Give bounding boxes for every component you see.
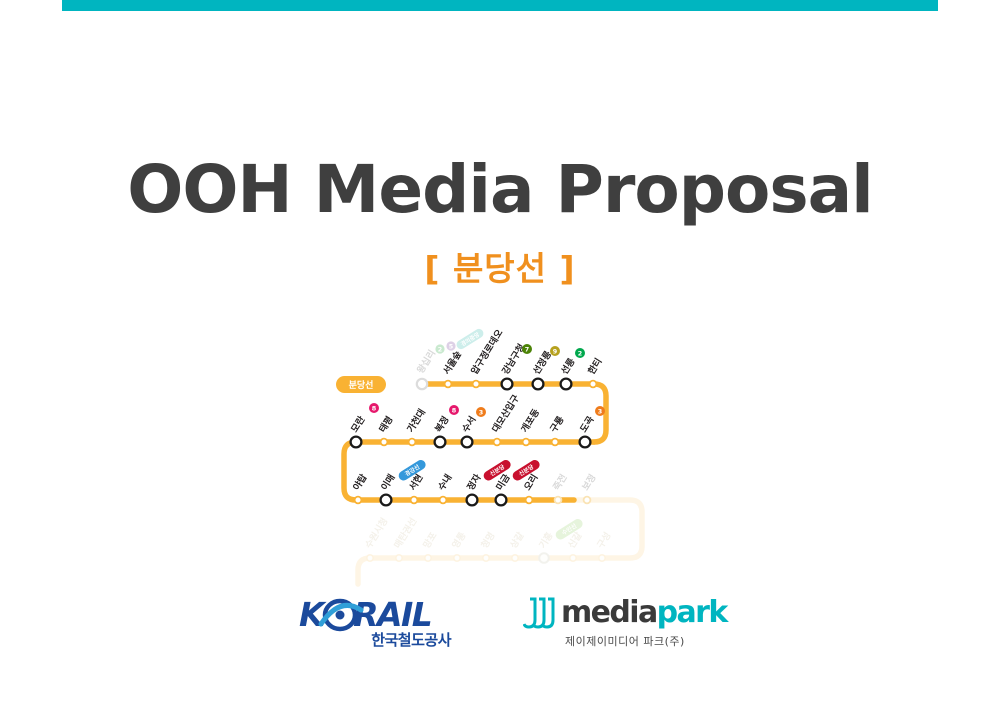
station-label: 도곡: [578, 414, 597, 435]
svg-text:7: 7: [525, 345, 529, 353]
bundang-line-map: 분당선 왕십리 2 5 경의중앙: [330, 318, 690, 588]
svg-text:8: 8: [452, 406, 457, 414]
mediapark-logo: mediapark 제이제이미디어 파크(주): [521, 598, 701, 656]
station-label: 대모산입구: [489, 392, 522, 435]
station-label: 기흥: [536, 529, 555, 550]
station-label: 구룡: [548, 414, 567, 435]
badge-line3: 3: [595, 406, 605, 416]
station-label: 수서: [459, 414, 478, 435]
station-label: 복정: [432, 414, 451, 435]
mediapark-logo-unit: mediapark 제이제이미디어 파크(주): [521, 598, 701, 656]
station-label: 태평: [376, 414, 395, 435]
top-accent-bar: [62, 0, 938, 11]
map-row-4-ghost: 수원시청 매탄권선 망포 영통 청명: [362, 516, 613, 563]
line-name-pill: 분당선: [336, 376, 386, 393]
mediapark-word-media: media: [561, 595, 657, 630]
station-label: 개포동: [518, 406, 542, 434]
station-label: 이매: [378, 472, 397, 493]
station-label: 영통: [449, 529, 468, 550]
station-label: 왕십리: [414, 348, 438, 376]
station-daemosan-ipgu[interactable]: 대모산입구: [489, 392, 522, 445]
korail-logo: KRAIL 한국철도공사: [299, 598, 449, 656]
station-label: 야탑: [350, 471, 369, 492]
station-label: 청명: [478, 530, 497, 551]
badge-gyeongui-jungang: 경의중앙: [455, 327, 485, 351]
logo-row: KRAIL 한국철도공사 mediapark 제이제이미디어 파크(주): [0, 598, 1000, 656]
station-label: 망포: [420, 529, 439, 550]
station-label: 수원시청: [362, 516, 390, 551]
station-label: 한티: [585, 356, 604, 377]
map-row-1: 왕십리 2 5 경의중앙 서울숲: [414, 327, 604, 390]
svg-text:9: 9: [553, 347, 558, 355]
mediapark-wordmark: mediapark: [561, 598, 727, 628]
line-name-label: 분당선: [349, 379, 374, 391]
mediapark-word-park: park: [657, 595, 727, 630]
map-row-3: 야탑 이매 경강선 서현 수내: [350, 458, 598, 505]
station-label: 가천대: [404, 407, 428, 435]
page-subtitle: [ 분당선 ]: [0, 242, 1000, 290]
station-label: 모란: [348, 413, 367, 434]
badge-line2: 2: [435, 344, 444, 353]
station-maetan-gwonseon[interactable]: 매탄권선: [391, 516, 419, 562]
title-block: OOH Media Proposal [ 분당선 ]: [0, 155, 1000, 290]
station-label: 서울숲: [440, 348, 464, 376]
badge-line8: 8: [369, 403, 379, 413]
svg-text:2: 2: [438, 345, 442, 353]
station-label: 보정: [579, 472, 598, 493]
svg-text:8: 8: [372, 404, 377, 412]
svg-text:3: 3: [479, 408, 483, 416]
station-label: 선릉: [558, 355, 577, 376]
station-label: 죽전: [550, 472, 569, 493]
badge-line7: 7: [522, 344, 532, 354]
korail-logo-unit: KRAIL 한국철도공사: [299, 598, 449, 656]
badge-line3: 3: [476, 407, 486, 417]
station-suwon-city-hall[interactable]: 수원시청: [362, 516, 390, 562]
mediapark-sub-label: 제이제이미디어 파크(주): [565, 633, 685, 649]
station-label: 상갈: [507, 529, 526, 550]
korail-sub-label: 한국철도공사: [371, 629, 451, 650]
badge-line8: 8: [449, 405, 459, 415]
map-row-2: 모란 8 태평 가천대 복정 8: [348, 392, 605, 447]
station-label: 매탄권선: [391, 516, 419, 551]
badge-line9: 9: [550, 346, 560, 356]
svg-text:3: 3: [598, 407, 602, 415]
badge-line2: 2: [575, 348, 585, 358]
station-label: 수내: [435, 472, 454, 493]
station-label: 정자: [464, 471, 483, 492]
mediapark-jj-mark-icon: [523, 596, 559, 632]
svg-text:5: 5: [449, 342, 453, 350]
station-label: 구성: [594, 530, 613, 551]
page-title: OOH Media Proposal: [0, 155, 1000, 224]
svg-text:2: 2: [578, 349, 582, 357]
